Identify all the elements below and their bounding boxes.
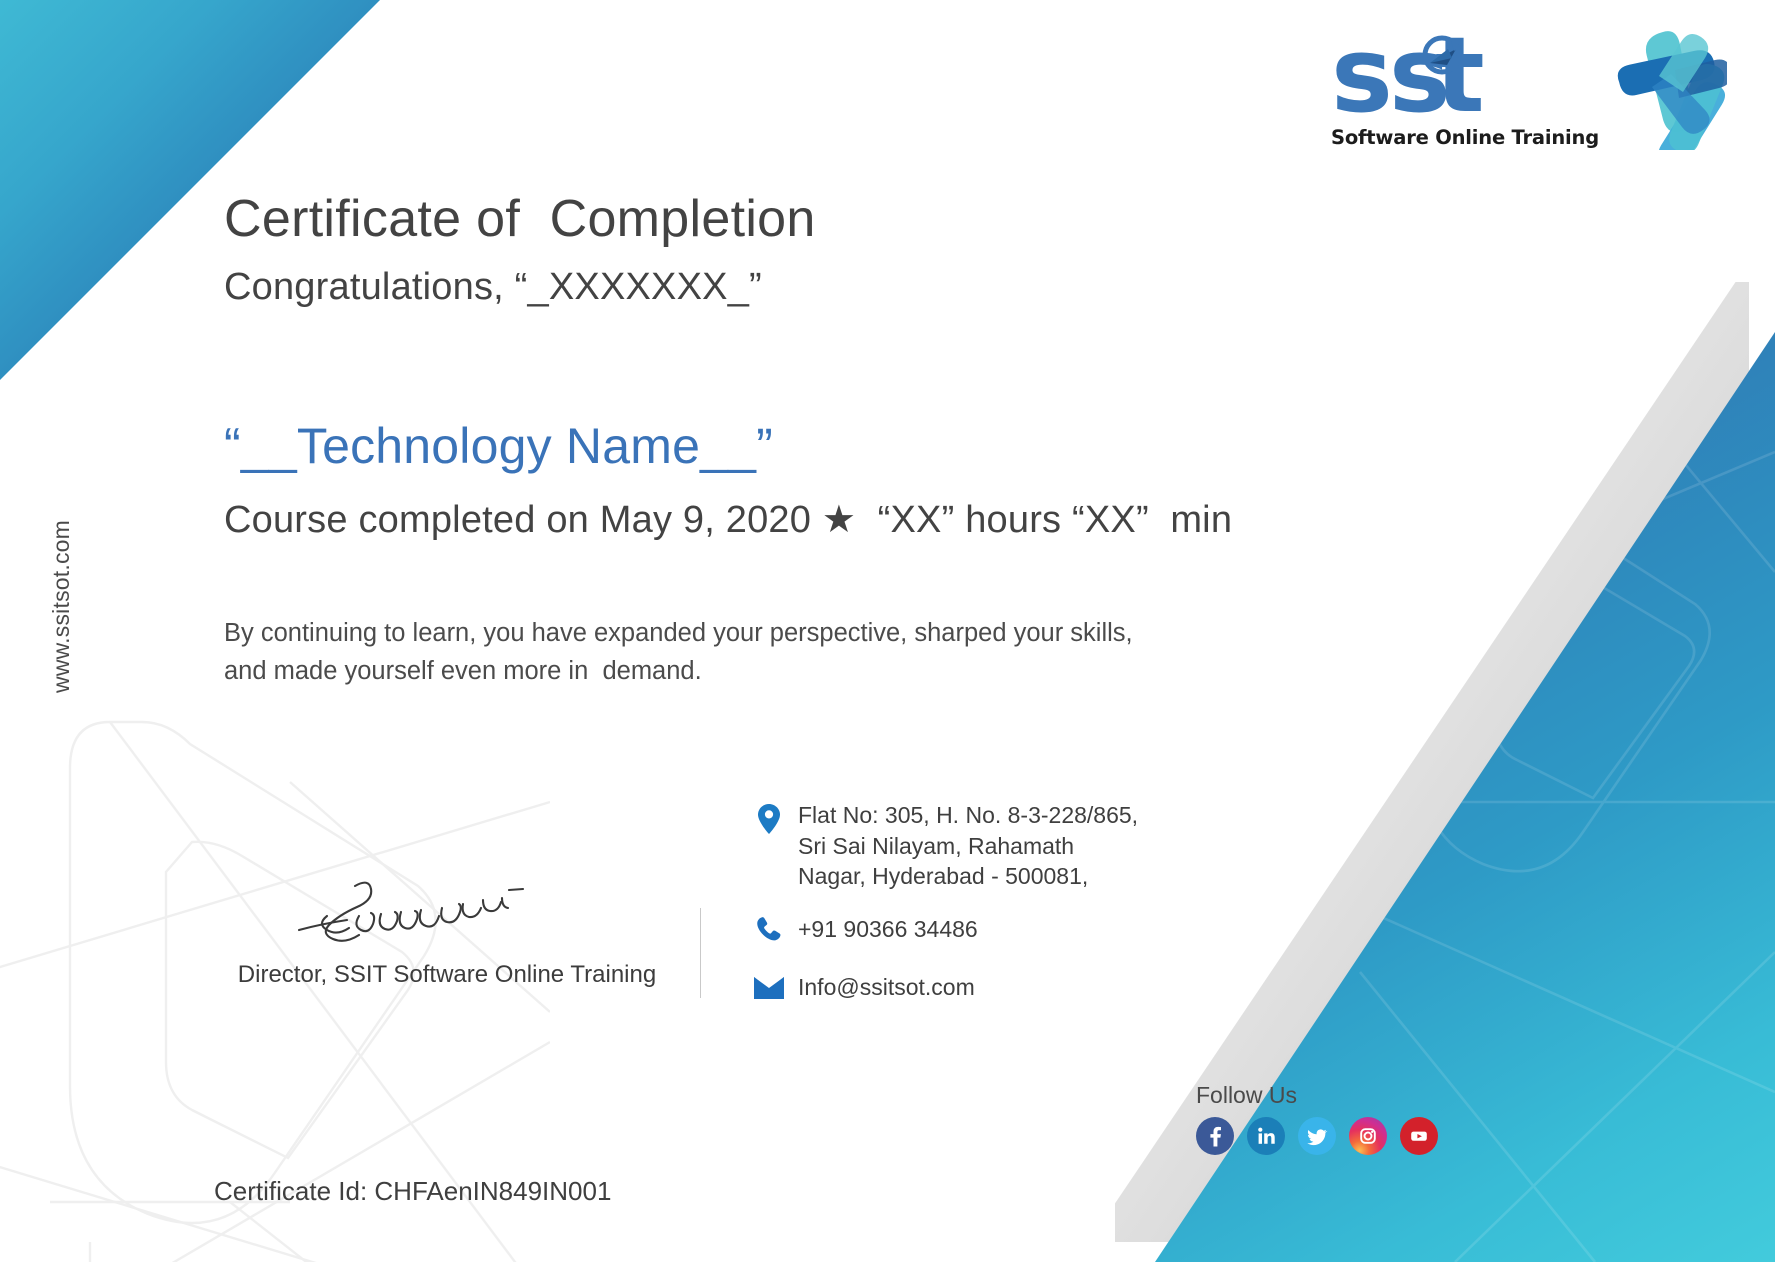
phone-row[interactable]: +91 90366 34486 (752, 914, 1138, 945)
certificate-page: ss t Software Online Training (0, 0, 1775, 1262)
page-title: Certificate of Completion (224, 190, 1404, 248)
follow-us-block: Follow Us (1196, 1082, 1438, 1155)
facebook-icon[interactable] (1196, 1117, 1234, 1155)
encouragement-blurb: By continuing to learn, you have expande… (224, 614, 1284, 691)
certificate-id: Certificate Id: CHFAenIN849IN001 (214, 1176, 611, 1207)
course-completed-line: Course completed on May 9, 2020 ★ “XX” h… (224, 497, 1404, 542)
ssit-wordmark-icon: ss t (1331, 33, 1599, 130)
congratulations-line: Congratulations, “_XXXXXXX_” (224, 266, 1404, 309)
ssit-star-icon (1609, 26, 1727, 155)
contact-block: Flat No: 305, H. No. 8-3-228/865, Sri Sa… (752, 800, 1138, 1025)
address-line-3: Nagar, Hyderabad - 500081, (798, 861, 1138, 892)
linkedin-icon[interactable] (1247, 1117, 1285, 1155)
address-row: Flat No: 305, H. No. 8-3-228/865, Sri Sa… (752, 800, 1138, 892)
phone-value: +91 90366 34486 (798, 914, 978, 945)
technology-name: “__Technology Name__” (224, 417, 1404, 475)
instagram-icon[interactable] (1349, 1117, 1387, 1155)
social-icon-row (1196, 1117, 1438, 1155)
address-line-1: Flat No: 305, H. No. 8-3-228/865, (798, 800, 1138, 831)
email-text: Info@ssitsot.com (786, 972, 975, 1003)
blurb-line-2: and made yourself even more in demand. (224, 652, 1284, 690)
follow-us-label: Follow Us (1196, 1082, 1438, 1109)
email-value: Info@ssitsot.com (798, 972, 975, 1003)
director-title: Director, SSIT Software Online Training (222, 961, 672, 989)
address-text: Flat No: 305, H. No. 8-3-228/865, Sri Sa… (786, 800, 1138, 892)
website-vertical-label: www.ssitsot.com (48, 520, 75, 693)
envelope-icon (752, 977, 786, 999)
location-pin-icon (752, 800, 786, 834)
address-line-2: Sri Sai Nilayam, Rahamath (798, 831, 1138, 862)
twitter-icon[interactable] (1298, 1117, 1336, 1155)
phone-icon (752, 916, 786, 942)
ssit-logo: ss t Software Online Training (1331, 26, 1727, 155)
phone-text: +91 90366 34486 (786, 914, 978, 945)
email-row[interactable]: Info@ssitsot.com (752, 972, 1138, 1003)
signature-block: Director, SSIT Software Online Training (222, 876, 672, 989)
blurb-line-1: By continuing to learn, you have expande… (224, 614, 1284, 652)
handwritten-signature-icon (222, 876, 672, 953)
vertical-divider (700, 908, 701, 998)
youtube-icon[interactable] (1400, 1117, 1438, 1155)
logo-tagline: Software Online Training (1331, 126, 1599, 149)
certificate-body: Certificate of Completion Congratulation… (224, 190, 1404, 691)
